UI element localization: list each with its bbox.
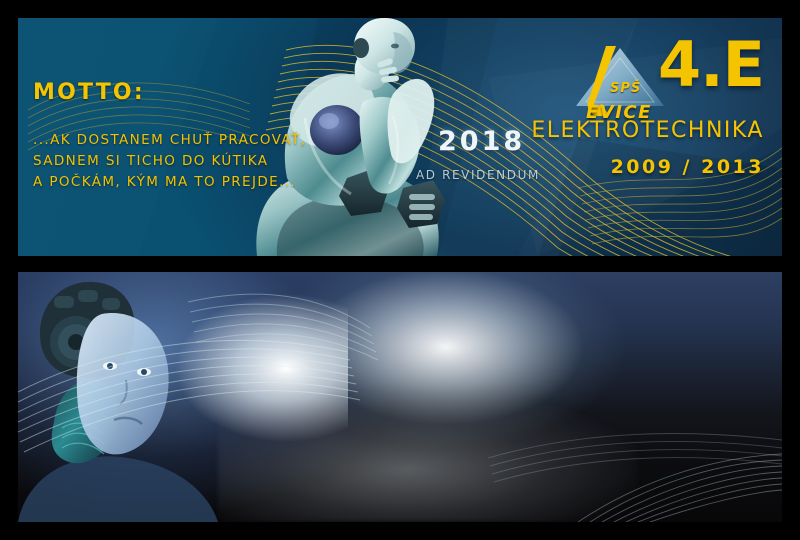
study-field: ELEKTROTECHNIKA bbox=[531, 118, 764, 143]
bottom-banner-panel: Neocapkať, neoslintať Škola je ako elekt… bbox=[18, 272, 782, 522]
school-year-range: 2009 / 2013 bbox=[611, 156, 764, 178]
class-code: 4.E bbox=[658, 34, 764, 96]
graduation-year: 2018 bbox=[438, 126, 525, 157]
motto-line-3: A POČKÁM, KÝM MA TO PREJDE... bbox=[33, 172, 306, 193]
fog-overlay bbox=[218, 392, 638, 522]
motto-label: MOTTO: bbox=[33, 80, 145, 105]
ad-revidendum-caption: AD REVIDENDUM bbox=[416, 168, 540, 182]
logo-acronym: SPŠ bbox=[610, 81, 641, 96]
motto-line-1: ...AK DOSTANEM CHUŤ PRACOVAŤ, bbox=[33, 130, 306, 151]
motto-line-2: SADNEM SI TICHO DO KÚTIKA bbox=[33, 151, 306, 172]
motto-text: ...AK DOSTANEM CHUŤ PRACOVAŤ, SADNEM SI … bbox=[33, 130, 306, 193]
top-banner-panel: MOTTO: ...AK DOSTANEM CHUŤ PRACOVAŤ, SAD… bbox=[18, 18, 782, 256]
